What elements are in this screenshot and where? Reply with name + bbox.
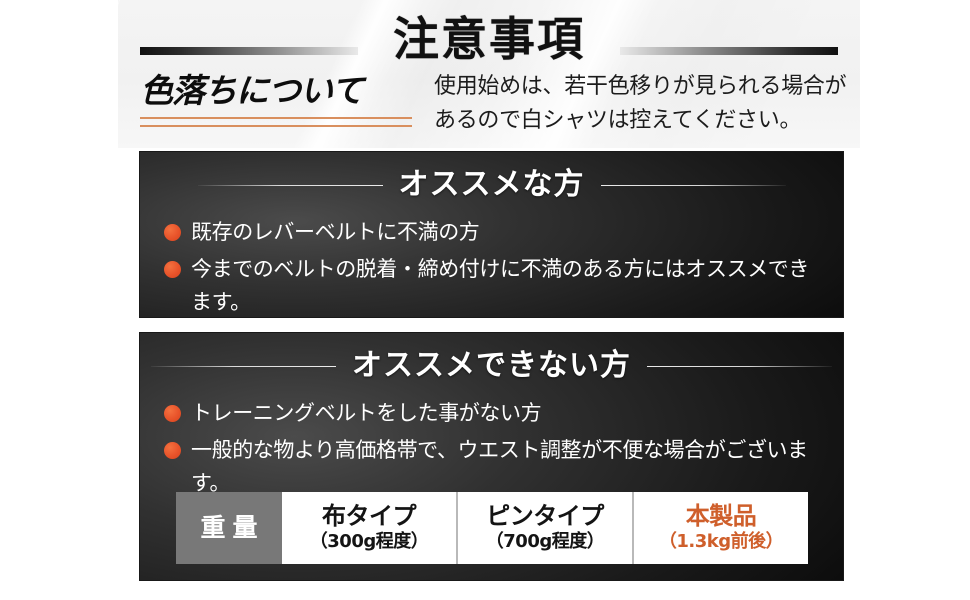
section-rule-left [198,185,383,186]
table-cell-title: 本製品 [686,502,757,530]
table-row-label-cell: 重量 [176,492,282,564]
subtitle-text: 色落ちについて [140,70,420,112]
weight-comparison-table: 重量 布タイプ （300g程度） ピンタイプ （700g程度） 本製品 （1.3… [176,492,808,564]
table-row-label: 重量 [193,513,264,543]
bullet-dot-icon [164,442,181,459]
list-item-label: 一般的な物より高価格帯で、ウエスト調整が不便な場合がございます。 [191,438,808,495]
table-cell-value: （1.3kg前後） [659,530,783,554]
table-cell-this-product: 本製品 （1.3kg前後） [634,492,808,564]
list-item: 既存のレバーベルトに不満の方 [164,216,817,249]
section-not-recommended-bullets: トレーニングベルトをした事がない方 一般的な物より高価格帯で、ウエスト調整が不便… [140,393,843,500]
bullet-dot-icon [164,224,181,241]
bullet-dot-icon [164,261,181,278]
table-cell-title: 布タイプ [322,502,416,530]
list-item-label: トレーニングベルトをした事がない方 [191,401,541,425]
section-recommended: オススメな方 既存のレバーベルトに不満の方 今までのベルトの脱着・締め付けに不満… [140,152,843,317]
section-rule-right [647,366,832,367]
table-cell-cloth-type: 布タイプ （300g程度） [282,492,458,564]
notice-page: 注意事項 色落ちについて 使用始めは、若干色移りが見られる場合があるので白シャツ… [0,0,970,600]
header-note-text: 使用始めは、若干色移りが見られる場合があるので白シャツは控えてください。 [434,70,854,138]
list-item-label: 今までのベルトの脱着・締め付けに不満のある方にはオススメできます。 [191,257,809,314]
page-title: 注意事項 [118,8,860,70]
section-rule-left [151,366,336,367]
subtitle-block: 色落ちについて [140,70,420,127]
table-cell-pin-type: ピンタイプ （700g程度） [458,492,634,564]
section-not-recommended-title: オススメできない方 [352,347,631,385]
page-title-row: 注意事項 [118,8,860,74]
list-item: 今までのベルトの脱着・締め付けに不満のある方にはオススメできます。 [164,253,817,317]
section-recommended-bullets: 既存のレバーベルトに不満の方 今までのベルトの脱着・締め付けに不満のある方にはオ… [140,212,843,317]
table-cell-value: （700g程度） [486,530,604,554]
section-not-recommended-header: オススメできない方 [140,333,843,393]
section-recommended-header: オススメな方 [140,152,843,212]
subtitle-underline [140,117,412,127]
table-cell-value: （300g程度） [310,530,428,554]
section-recommended-title: オススメな方 [399,166,585,204]
bullet-dot-icon [164,405,181,422]
list-item: 一般的な物より高価格帯で、ウエスト調整が不便な場合がございます。 [164,434,817,500]
section-rule-right [601,185,786,186]
list-item-label: 既存のレバーベルトに不満の方 [191,220,479,244]
table-cell-title: ピンタイプ [486,502,604,530]
list-item: トレーニングベルトをした事がない方 [164,397,817,430]
